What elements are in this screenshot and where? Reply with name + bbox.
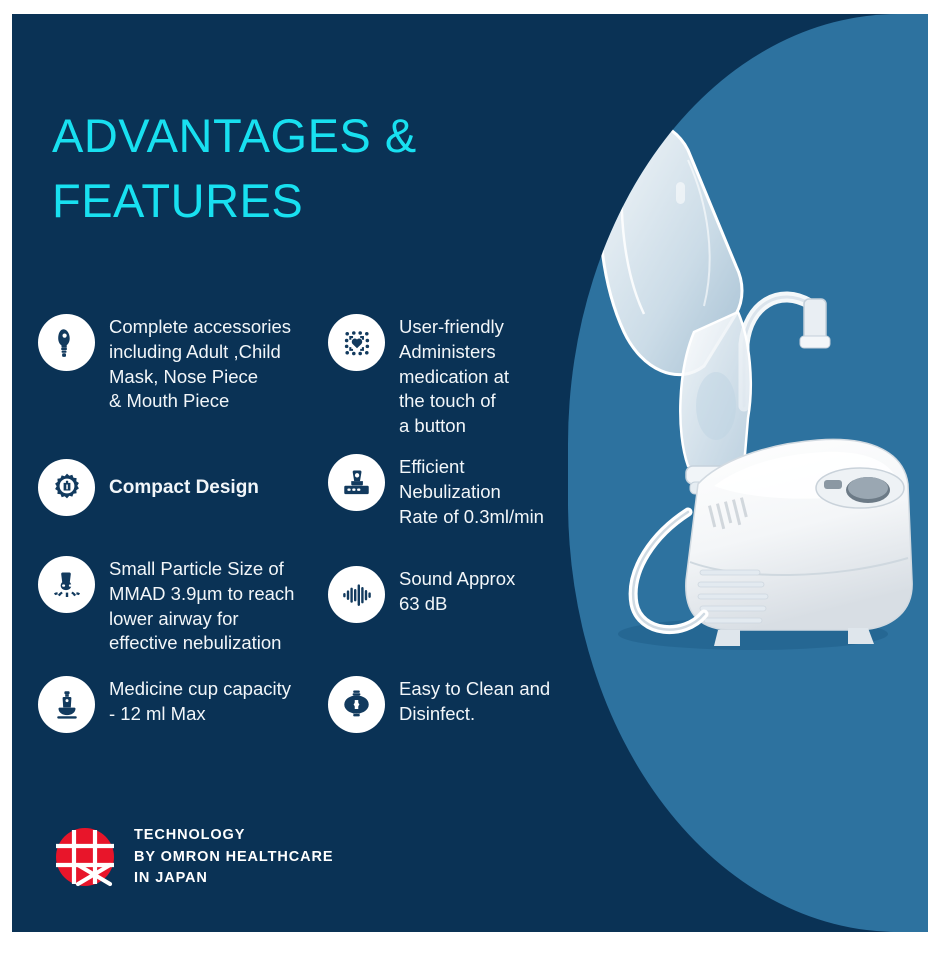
feature-item-particle-size: Small Particle Size of MMAD 3.9µm to rea… xyxy=(38,556,294,656)
feature-item-easy-clean: Easy to Clean and Disinfect. xyxy=(328,676,550,733)
page-title: ADVANTAGES & FEATURES xyxy=(52,104,492,234)
feature-item-medicine-cup: Medicine cup capacity - 12 ml Max xyxy=(38,676,291,733)
feature-text-medicine-cup: Medicine cup capacity - 12 ml Max xyxy=(109,676,291,727)
nebulizer-compressor-with-mask-illustration xyxy=(568,14,928,932)
feature-text-sound-level: Sound Approx 63 dB xyxy=(399,566,515,617)
feature-item-user-friendly: User-friendly Administers medication at … xyxy=(328,314,509,439)
footer-line-1: TECHNOLOGY xyxy=(134,825,333,847)
feature-item-sound-level: Sound Approx 63 dB xyxy=(328,566,515,623)
footer-line-3: IN JAPAN xyxy=(134,868,333,890)
feature-text-nebulization-rate: Efficient Nebulization Rate of 0.3ml/min xyxy=(399,454,544,529)
infographic-card: ADVANTAGES & FEATURES Complete acces xyxy=(12,14,928,932)
nose-particle-icon xyxy=(38,556,95,613)
footer-line-2: BY OMRON HEALTHCARE xyxy=(134,847,333,869)
mask-accessories-icon xyxy=(38,314,95,371)
feature-text-compact-design: Compact Design xyxy=(109,474,259,500)
feature-text-easy-clean: Easy to Clean and Disinfect. xyxy=(399,676,550,727)
footer-branding: TECHNOLOGY BY OMRON HEALTHCARE IN JAPAN xyxy=(54,825,333,890)
title-line-2: FEATURES xyxy=(52,169,492,234)
sound-wave-icon xyxy=(328,566,385,623)
heart-touch-icon xyxy=(328,314,385,371)
medicine-cup-icon xyxy=(38,676,95,733)
feature-text-user-friendly: User-friendly Administers medication at … xyxy=(399,314,509,439)
nebulizer-unit-icon xyxy=(328,454,385,511)
feature-text-accessories: Complete accessories including Adult ,Ch… xyxy=(109,314,291,414)
feature-item-accessories: Complete accessories including Adult ,Ch… xyxy=(38,314,291,414)
footer-text: TECHNOLOGY BY OMRON HEALTHCARE IN JAPAN xyxy=(134,825,333,890)
gear-compressor-icon xyxy=(38,459,95,516)
product-image-panel xyxy=(568,14,928,932)
title-line-1: ADVANTAGES & xyxy=(52,104,492,169)
omron-logo-icon xyxy=(54,826,116,888)
feature-text-particle-size: Small Particle Size of MMAD 3.9µm to rea… xyxy=(109,556,294,656)
clean-disinfect-icon xyxy=(328,676,385,733)
feature-item-nebulization-rate: Efficient Nebulization Rate of 0.3ml/min xyxy=(328,454,544,529)
feature-item-compact-design: Compact Design xyxy=(38,459,259,516)
